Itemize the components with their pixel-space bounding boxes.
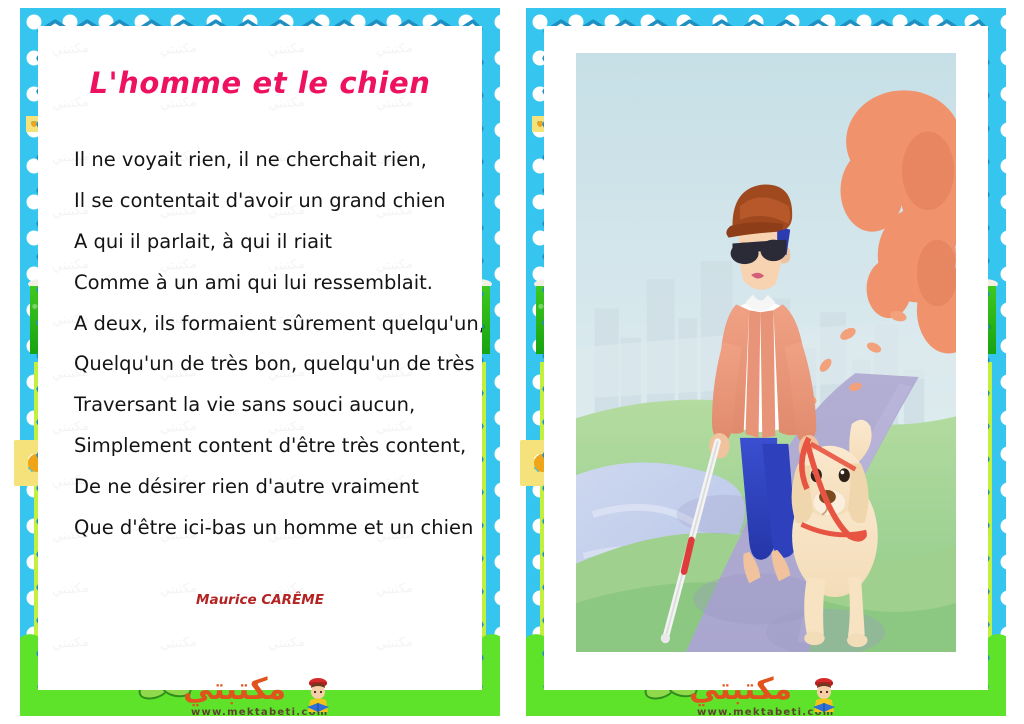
right-page-card [544, 26, 988, 690]
poem-card-surface: مكتبتيمكتبتيمكتبتيمكتبتيمكتبتيمكتبتيمكتب… [38, 26, 482, 690]
poem-line: Quelqu'un de très bon, quelqu'un de très… [74, 354, 462, 374]
watermark-text: مكتبتي [268, 635, 306, 653]
poem-line: Traversant la vie sans souci aucun, [74, 395, 462, 415]
illustration-card-surface [544, 26, 988, 690]
watermark-text: مكتبتي [160, 635, 198, 653]
watermark-text: مكتبتي [376, 41, 414, 59]
watermark-text: مكتبتي [376, 635, 414, 653]
watermark-text: مكتبتي [268, 41, 306, 59]
right-page-illustration: مكتبتي www.mektabeti.com [518, 0, 1014, 724]
boy-reading-book-icon [297, 674, 339, 716]
watermark-text: مكتبتي [52, 635, 90, 653]
watermark-text: مكتبتي [160, 41, 198, 59]
poem-worksheet-spread: مكتبتيمكتبتيمكتبتيمكتبتيمكتبتيمكتبتيمكتب… [0, 0, 1024, 724]
boy-reading-book-icon [803, 674, 845, 716]
left-page-card: مكتبتيمكتبتيمكتبتيمكتبتيمكتبتيمكتبتيمكتب… [38, 26, 482, 690]
poem-body: Il ne voyait rien, il ne cherchait rien,… [74, 150, 462, 559]
poem-line: A qui il parlait, à qui il riait [74, 232, 462, 252]
poem-line: Comme à un ami qui lui ressemblait. [74, 273, 462, 293]
site-logo[interactable]: مكتبتي www.mektabeti.com [681, 672, 851, 720]
poem-line: Il ne voyait rien, il ne cherchait rien, [74, 150, 462, 170]
blind-man-guide-dog-illustration [576, 53, 956, 652]
page-title: L'homme et le chien [38, 66, 482, 100]
poem-line: Simplement content d'être très content, [74, 436, 462, 456]
poem-line: A deux, ils formaient sûrement quelqu'un… [74, 314, 462, 334]
poem-line: Il se contentait d'avoir un grand chien [74, 191, 462, 211]
poem-author: Maurice CARÊME [38, 592, 482, 608]
watermark-text: مكتبتي [52, 41, 90, 59]
site-logo[interactable]: مكتبتي www.mektabeti.com [175, 672, 345, 720]
left-page-poem: مكتبتيمكتبتيمكتبتيمكتبتيمكتبتيمكتبتيمكتب… [12, 0, 508, 724]
logo-arabic-text: مكتبتي [183, 672, 286, 707]
poem-line: De ne désirer rien d'autre vraiment [74, 477, 462, 497]
poem-line: Que d'être ici-bas un homme et un chien [74, 518, 462, 538]
logo-arabic-text: مكتبتي [689, 672, 792, 707]
